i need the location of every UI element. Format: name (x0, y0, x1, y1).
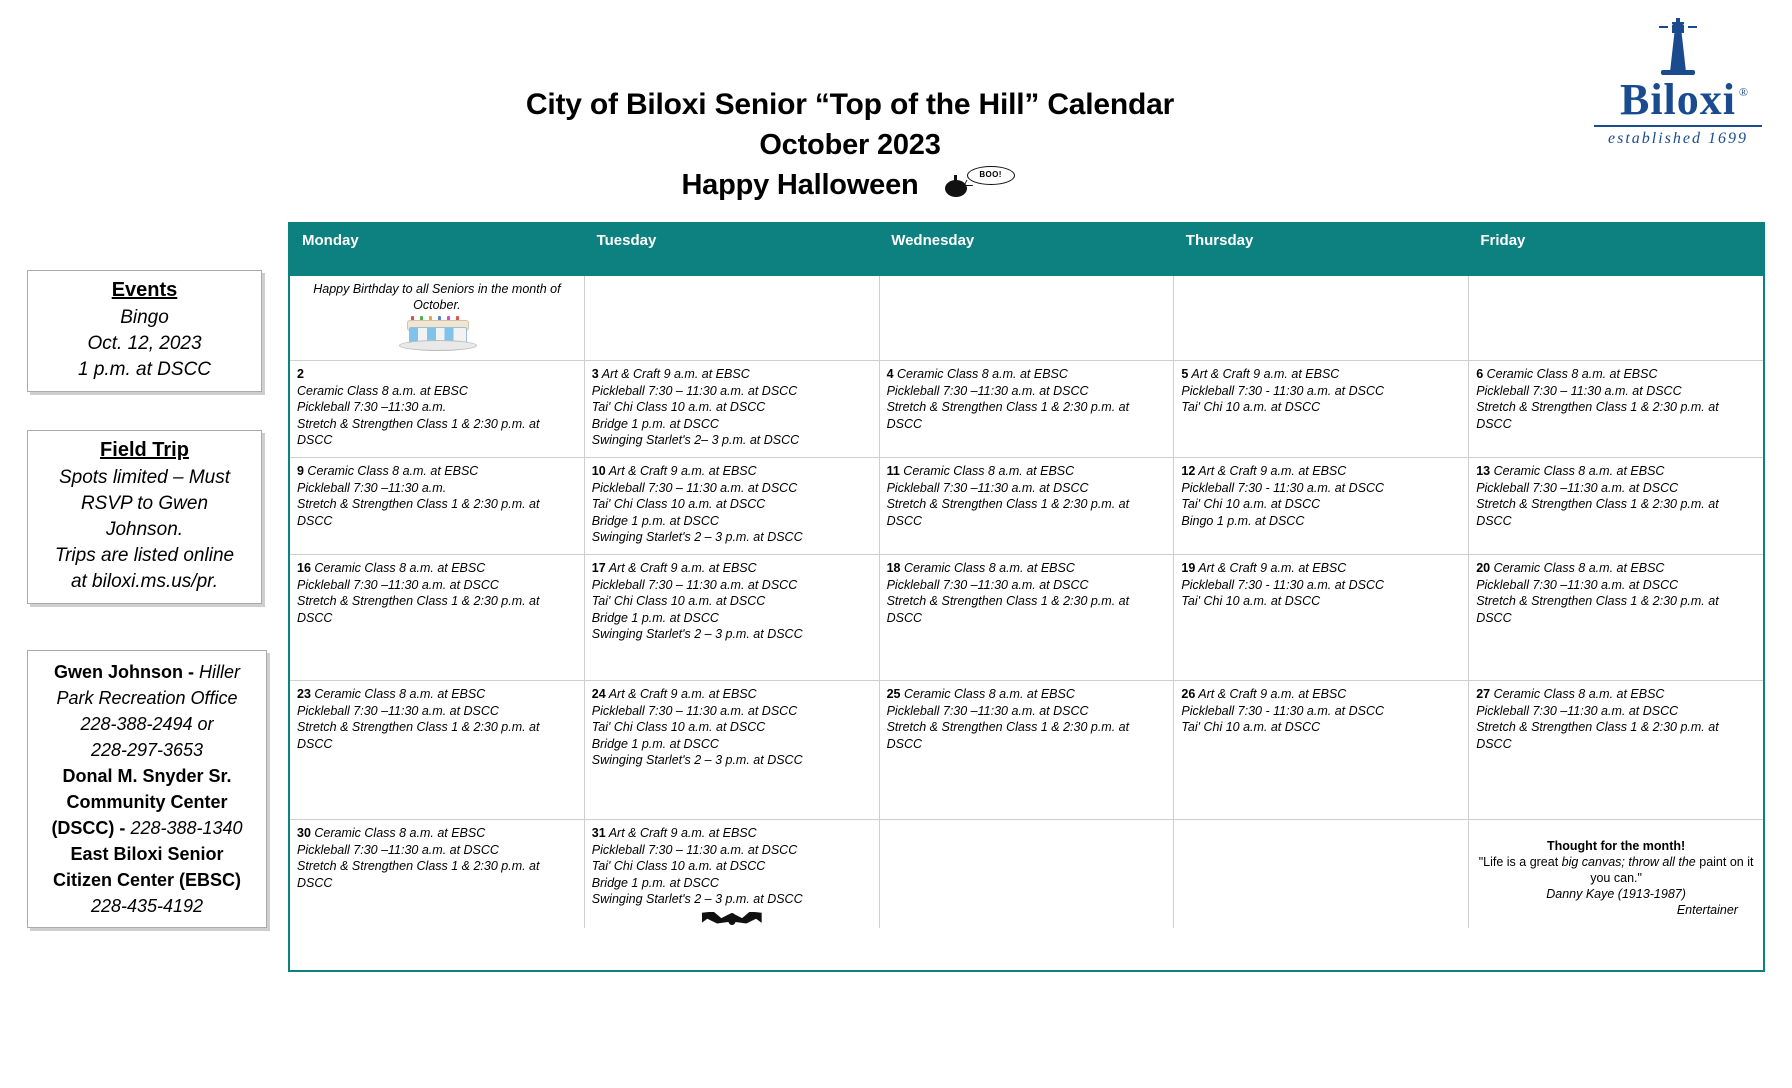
calendar-event-text: Tai' Chi Class 10 a.m. at DSCC (592, 593, 872, 610)
calendar-cell-day-26[interactable]: 26 Art & Craft 9 a.m. at EBSCPickleball … (1173, 681, 1468, 819)
calendar-day-number: 24 (592, 687, 606, 701)
calendar-event-text: Tai' Chi 10 a.m. at DSCC (1181, 399, 1461, 416)
events-line-1: Bingo (38, 305, 251, 331)
calendar-day-first-line: 25 Ceramic Class 8 a.m. at EBSC (887, 686, 1167, 703)
calendar-day-first-line: 4 Ceramic Class 8 a.m. at EBSC (887, 366, 1167, 383)
calendar-event-text: Ceramic Class 8 a.m. at EBSC (1490, 561, 1664, 575)
field-trip-line-4: Trips are listed online (38, 543, 251, 569)
calendar-event-text: Stretch & Strengthen Class 1 & 2:30 p.m.… (887, 593, 1167, 626)
calendar-day-number: 25 (887, 687, 901, 701)
calendar-day-number: 11 (887, 464, 900, 478)
thought-quote-part-1: "Life is a great (1479, 855, 1562, 869)
calendar-event-text: Pickleball 7:30 – 11:30 a.m. at DSCC (1476, 383, 1756, 400)
calendar-day-first-line: 26 Art & Craft 9 a.m. at EBSC (1181, 686, 1461, 703)
calendar-cell-empty[interactable] (1173, 276, 1468, 360)
calendar-event-text: Pickleball 7:30 –11:30 a.m. at DSCC (887, 383, 1167, 400)
calendar-event-text: Pickleball 7:30 –11:30 a.m. at DSCC (887, 577, 1167, 594)
calendar-cell-day-9[interactable]: 9 Ceramic Class 8 a.m. at EBSCPickleball… (290, 458, 584, 554)
calendar-day-first-line: 31 Art & Craft 9 a.m. at EBSC (592, 825, 872, 842)
calendar-event-text: Tai' Chi Class 10 a.m. at DSCC (592, 858, 872, 875)
calendar-day-number: 4 (887, 367, 894, 381)
calendar-day-number: 31 (592, 826, 606, 840)
calendar-header-monday: Monday (290, 224, 585, 276)
dscc-name-1: Donal M. Snyder Sr. (38, 763, 256, 789)
dscc-name-1-text: Donal M. Snyder Sr. (62, 766, 231, 786)
calendar-day-first-line: 24 Art & Craft 9 a.m. at EBSC (592, 686, 872, 703)
calendar-header-row: MondayTuesdayWednesdayThursdayFriday (290, 224, 1763, 276)
logo-wordmark: Biloxi® (1620, 78, 1736, 122)
ebsc-name-2-text: Citizen Center (EBSC) (53, 870, 241, 890)
boo-bubble-text: BOO! (967, 166, 1015, 185)
calendar-cell-day-4[interactable]: 4 Ceramic Class 8 a.m. at EBSCPickleball… (879, 361, 1174, 457)
calendar-event-text: Pickleball 7:30 - 11:30 a.m. at DSCC (1181, 577, 1461, 594)
ebsc-name-2: Citizen Center (EBSC) (38, 867, 256, 893)
calendar-event-text: Tai' Chi Class 10 a.m. at DSCC (592, 719, 872, 736)
calendar-event-text: Stretch & Strengthen Class 1 & 2:30 p.m.… (1476, 719, 1756, 752)
calendar-body: Happy Birthday to all Seniors in the mon… (290, 276, 1763, 928)
calendar-event-text: Pickleball 7:30 –11:30 a.m. (297, 399, 577, 416)
calendar-cell-empty[interactable] (1173, 820, 1468, 928)
calendar-cell-day-27[interactable]: 27 Ceramic Class 8 a.m. at EBSCPicklebal… (1468, 681, 1763, 819)
calendar-cell-thought-for-the-month[interactable]: Thought for the month!"Life is a great b… (1468, 820, 1763, 928)
calendar-day-number: 9 (297, 464, 304, 478)
calendar-event-text: Ceramic Class 8 a.m. at EBSC (297, 383, 577, 400)
calendar-event-text: Pickleball 7:30 –11:30 a.m. at DSCC (297, 577, 577, 594)
calendar-event-text: Swinging Starlet's 2 – 3 p.m. at DSCC (592, 752, 872, 769)
calendar-day-first-line: 23 Ceramic Class 8 a.m. at EBSC (297, 686, 577, 703)
calendar-week-row: Happy Birthday to all Seniors in the mon… (290, 276, 1763, 360)
calendar-event-text: Art & Craft 9 a.m. at EBSC (1195, 561, 1346, 575)
calendar-event-text: Art & Craft 9 a.m. at EBSC (1195, 464, 1346, 478)
calendar-event-text: Ceramic Class 8 a.m. at EBSC (900, 464, 1074, 478)
calendar-event-text: Bridge 1 p.m. at DSCC (592, 875, 872, 892)
logo-established: established 1699 (1580, 130, 1776, 148)
calendar-event-text: Bridge 1 p.m. at DSCC (592, 610, 872, 627)
calendar-event-text: Tai' Chi Class 10 a.m. at DSCC (592, 496, 872, 513)
field-trip-line-1: Spots limited – Must (38, 465, 251, 491)
calendar-event-text: Pickleball 7:30 –11:30 a.m. at DSCC (887, 703, 1167, 720)
calendar-day-first-line: 16 Ceramic Class 8 a.m. at EBSC (297, 560, 577, 577)
calendar-day-first-line: 18 Ceramic Class 8 a.m. at EBSC (887, 560, 1167, 577)
calendar-event-text: Tai' Chi 10 a.m. at DSCC (1181, 593, 1461, 610)
calendar-event-text: Tai' Chi 10 a.m. at DSCC (1181, 719, 1461, 736)
calendar-event-text: Pickleball 7:30 - 11:30 a.m. at DSCC (1181, 480, 1461, 497)
calendar-event-text: Pickleball 7:30 – 11:30 a.m. at DSCC (592, 842, 872, 859)
thought-quote: "Life is a great big canvas; throw all t… (1476, 854, 1756, 886)
calendar-event-text: Stretch & Strengthen Class 1 & 2:30 p.m.… (297, 416, 577, 449)
logo-wordmark-text: Biloxi (1620, 75, 1736, 124)
field-trip-line-2: RSVP to Gwen (38, 491, 251, 517)
calendar-event-text: Ceramic Class 8 a.m. at EBSC (1490, 464, 1664, 478)
calendar-day-number: 2 (297, 367, 304, 381)
calendar-day-number: 19 (1181, 561, 1195, 575)
calendar-day-first-line: 30 Ceramic Class 8 a.m. at EBSC (297, 825, 577, 842)
contact-box: Gwen Johnson - Hiller Park Recreation Of… (27, 650, 267, 928)
calendar-cell-day-6[interactable]: 6 Ceramic Class 8 a.m. at EBSCPickleball… (1468, 361, 1763, 457)
calendar-event-text: Art & Craft 9 a.m. at EBSC (599, 367, 750, 381)
calendar-event-text: Swinging Starlet's 2 – 3 p.m. at DSCC (592, 891, 872, 908)
calendar-event-text: Pickleball 7:30 –11:30 a.m. at DSCC (297, 703, 577, 720)
birthday-cake-icon (399, 317, 475, 351)
calendar-cell-day-24[interactable]: 24 Art & Craft 9 a.m. at EBSCPickleball … (584, 681, 879, 819)
calendar-cell-day-10[interactable]: 10 Art & Craft 9 a.m. at EBSCPickleball … (584, 458, 879, 554)
calendar-event-text: Bridge 1 p.m. at DSCC (592, 513, 872, 530)
calendar-day-first-line: 11 Ceramic Class 8 a.m. at EBSC (887, 463, 1167, 480)
calendar-header-friday: Friday (1468, 224, 1763, 276)
calendar-header-thursday: Thursday (1174, 224, 1469, 276)
calendar-day-first-line: 17 Art & Craft 9 a.m. at EBSC (592, 560, 872, 577)
field-trip-line-3: Johnson. (38, 517, 251, 543)
calendar-event-text: Pickleball 7:30 – 11:30 a.m. at DSCC (592, 480, 872, 497)
calendar-week-row: 23 Ceramic Class 8 a.m. at EBSCPicklebal… (290, 680, 1763, 819)
calendar-cell-empty[interactable] (879, 820, 1174, 928)
halloween-pumpkin-icon: BOO! (939, 166, 1019, 200)
calendar-cell-day-18[interactable]: 18 Ceramic Class 8 a.m. at EBSCPicklebal… (879, 555, 1174, 680)
calendar-event-text: Stretch & Strengthen Class 1 & 2:30 p.m.… (1476, 496, 1756, 529)
calendar-header-wednesday: Wednesday (879, 224, 1174, 276)
calendar-cell-day-16[interactable]: 16 Ceramic Class 8 a.m. at EBSCPicklebal… (290, 555, 584, 680)
calendar-cell-empty[interactable] (879, 276, 1174, 360)
logo-divider (1594, 125, 1762, 127)
contact-name-row: Gwen Johnson - Hiller (38, 659, 256, 685)
contact-phone-2: 228-297-3653 (38, 737, 256, 763)
calendar-event-text: Tai' Chi 10 a.m. at DSCC (1181, 496, 1461, 513)
page-title: City of Biloxi Senior “Top of the Hill” … (300, 85, 1400, 205)
calendar-day-number: 20 (1476, 561, 1490, 575)
calendar-event-text: Stretch & Strengthen Class 1 & 2:30 p.m.… (887, 496, 1167, 529)
events-line-3: 1 p.m. at DSCC (38, 357, 251, 383)
contact-phone-1: 228-388-2494 or (38, 711, 256, 737)
calendar-event-text: Ceramic Class 8 a.m. at EBSC (901, 561, 1075, 575)
calendar-event-text: Pickleball 7:30 –11:30 a.m. at DSCC (1476, 703, 1756, 720)
calendar-event-text: Pickleball 7:30 –11:30 a.m. (297, 480, 577, 497)
calendar-event-text: Swinging Starlet's 2– 3 p.m. at DSCC (592, 432, 872, 449)
calendar-event-text: Stretch & Strengthen Class 1 & 2:30 p.m.… (297, 719, 577, 752)
calendar-event-text: Bingo 1 p.m. at DSCC (1181, 513, 1461, 530)
calendar-cell-day-3[interactable]: 3 Art & Craft 9 a.m. at EBSCPickleball 7… (584, 361, 879, 457)
calendar-event-text: Ceramic Class 8 a.m. at EBSC (311, 561, 485, 575)
calendar-event-text: Bridge 1 p.m. at DSCC (592, 416, 872, 433)
calendar-event-text: Stretch & Strengthen Class 1 & 2:30 p.m.… (887, 399, 1167, 432)
calendar-cell-day-2[interactable]: 2 Ceramic Class 8 a.m. at EBSCPickleball… (290, 361, 584, 457)
title-line-2: October 2023 (300, 125, 1400, 165)
calendar-event-text: Pickleball 7:30 – 11:30 a.m. at DSCC (592, 577, 872, 594)
thought-author-role: Entertainer (1476, 902, 1756, 918)
dscc-phone: 228-388-1340 (130, 818, 242, 838)
contact-name-italic: Hiller (194, 662, 240, 682)
calendar-cell-day-17[interactable]: 17 Art & Craft 9 a.m. at EBSCPickleball … (584, 555, 879, 680)
calendar-day-first-line: 5 Art & Craft 9 a.m. at EBSC (1181, 366, 1461, 383)
dscc-label: (DSCC) - (51, 818, 130, 838)
birthday-note-text: Happy Birthday to all Seniors in the mon… (297, 281, 577, 313)
calendar-event-text: Ceramic Class 8 a.m. at EBSC (1483, 367, 1657, 381)
calendar-day-first-line: 20 Ceramic Class 8 a.m. at EBSC (1476, 560, 1756, 577)
calendar-event-text: Stretch & Strengthen Class 1 & 2:30 p.m.… (1476, 399, 1756, 432)
calendar-cell-day-19[interactable]: 19 Art & Craft 9 a.m. at EBSCPickleball … (1173, 555, 1468, 680)
calendar-cell-day-25[interactable]: 25 Ceramic Class 8 a.m. at EBSCPicklebal… (879, 681, 1174, 819)
calendar-event-text: Bridge 1 p.m. at DSCC (592, 736, 872, 753)
calendar-day-number: 13 (1476, 464, 1490, 478)
calendar-event-text: Art & Craft 9 a.m. at EBSC (1188, 367, 1339, 381)
calendar-day-first-line: 9 Ceramic Class 8 a.m. at EBSC (297, 463, 577, 480)
field-trip-title: Field Trip (38, 439, 251, 462)
calendar-day-number: 23 (297, 687, 311, 701)
calendar-event-text: Pickleball 7:30 –11:30 a.m. at DSCC (1476, 577, 1756, 594)
dscc-name-2-text: Community Center (66, 792, 227, 812)
calendar-event-text: Art & Craft 9 a.m. at EBSC (1195, 687, 1346, 701)
calendar-week-row: 2 Ceramic Class 8 a.m. at EBSCPickleball… (290, 360, 1763, 457)
calendar-cell-day-20[interactable]: 20 Ceramic Class 8 a.m. at EBSCPicklebal… (1468, 555, 1763, 680)
calendar-day-number: 27 (1476, 687, 1490, 701)
calendar-event-text: Art & Craft 9 a.m. at EBSC (606, 826, 757, 840)
calendar-event-text: Stretch & Strengthen Class 1 & 2:30 p.m.… (297, 858, 577, 891)
events-box: Events Bingo Oct. 12, 2023 1 p.m. at DSC… (27, 270, 262, 392)
calendar-header-tuesday: Tuesday (585, 224, 880, 276)
calendar-event-text: Pickleball 7:30 - 11:30 a.m. at DSCC (1181, 703, 1461, 720)
calendar-event-text: Pickleball 7:30 - 11:30 a.m. at DSCC (1181, 383, 1461, 400)
registered-mark: ® (1739, 70, 1749, 114)
calendar-event-text: Stretch & Strengthen Class 1 & 2:30 p.m.… (887, 719, 1167, 752)
calendar-day-first-line: 2 (297, 366, 577, 383)
calendar-cell-day-5[interactable]: 5 Art & Craft 9 a.m. at EBSCPickleball 7… (1173, 361, 1468, 457)
title-line-3: Happy HalloweenBOO! (300, 165, 1400, 205)
calendar-event-text: Pickleball 7:30 – 11:30 a.m. at DSCC (592, 383, 872, 400)
title-line-3-text: Happy Halloween (681, 169, 918, 201)
calendar-event-text: Swinging Starlet's 2 – 3 p.m. at DSCC (592, 529, 872, 546)
calendar-cell-day-30[interactable]: 30 Ceramic Class 8 a.m. at EBSCPicklebal… (290, 820, 584, 928)
calendar-day-first-line: 10 Art & Craft 9 a.m. at EBSC (592, 463, 872, 480)
calendar-event-text: Swinging Starlet's 2 – 3 p.m. at DSCC (592, 626, 872, 643)
calendar-cell-empty[interactable] (584, 276, 879, 360)
calendar-event-text: Ceramic Class 8 a.m. at EBSC (304, 464, 478, 478)
calendar-cell-day-12[interactable]: 12 Art & Craft 9 a.m. at EBSCPickleball … (1173, 458, 1468, 554)
calendar-event-text: Pickleball 7:30 –11:30 a.m. at DSCC (297, 842, 577, 859)
calendar-event-text: Pickleball 7:30 –11:30 a.m. at DSCC (1476, 480, 1756, 497)
dscc-name-2: Community Center (38, 789, 256, 815)
calendar-day-number: 30 (297, 826, 311, 840)
calendar-day-first-line: 3 Art & Craft 9 a.m. at EBSC (592, 366, 872, 383)
lighthouse-icon (1657, 18, 1699, 76)
calendar-cell-birthday-note[interactable]: Happy Birthday to all Seniors in the mon… (290, 276, 584, 360)
bat-icon (700, 910, 764, 929)
calendar-day-number: 18 (887, 561, 901, 575)
contact-name-bold: Gwen Johnson - (54, 662, 194, 682)
field-trip-line-5: at biloxi.ms.us/pr. (38, 569, 251, 595)
calendar-week-row: 30 Ceramic Class 8 a.m. at EBSCPicklebal… (290, 819, 1763, 928)
calendar-event-text: Art & Craft 9 a.m. at EBSC (606, 464, 757, 478)
calendar-day-first-line: 6 Ceramic Class 8 a.m. at EBSC (1476, 366, 1756, 383)
calendar-day-number: 16 (297, 561, 311, 575)
calendar-cell-day-23[interactable]: 23 Ceramic Class 8 a.m. at EBSCPicklebal… (290, 681, 584, 819)
calendar-week-row: 16 Ceramic Class 8 a.m. at EBSCPicklebal… (290, 554, 1763, 680)
calendar-cell-empty[interactable] (1468, 276, 1763, 360)
calendar-cell-day-31[interactable]: 31 Art & Craft 9 a.m. at EBSCPickleball … (584, 820, 879, 928)
calendar-event-text: Ceramic Class 8 a.m. at EBSC (894, 367, 1068, 381)
calendar-day-number: 10 (592, 464, 606, 478)
calendar-day-number: 17 (592, 561, 606, 575)
calendar-event-text: Stretch & Strengthen Class 1 & 2:30 p.m.… (297, 593, 577, 626)
field-trip-box: Field Trip Spots limited – Must RSVP to … (27, 430, 262, 604)
events-line-2: Oct. 12, 2023 (38, 331, 251, 357)
biloxi-logo: Biloxi® established 1699 (1580, 18, 1776, 168)
thought-quote-italic: big canvas; throw all the (1562, 855, 1696, 869)
calendar-event-text: Ceramic Class 8 a.m. at EBSC (311, 826, 485, 840)
calendar-event-text: Art & Craft 9 a.m. at EBSC (606, 687, 757, 701)
calendar-event-text: Art & Craft 9 a.m. at EBSC (606, 561, 757, 575)
contact-office: Park Recreation Office (38, 685, 256, 711)
events-title: Events (38, 279, 251, 302)
calendar-event-text: Stretch & Strengthen Class 1 & 2:30 p.m.… (297, 496, 577, 529)
calendar-event-text: Pickleball 7:30 – 11:30 a.m. at DSCC (592, 703, 872, 720)
calendar-table: MondayTuesdayWednesdayThursdayFriday Hap… (288, 222, 1765, 972)
ebsc-name-1: East Biloxi Senior (38, 841, 256, 867)
ebsc-phone: 228-435-4192 (38, 893, 256, 919)
calendar-day-number: 26 (1181, 687, 1195, 701)
calendar-event-text: Ceramic Class 8 a.m. at EBSC (901, 687, 1075, 701)
title-line-1: City of Biloxi Senior “Top of the Hill” … (300, 85, 1400, 125)
calendar-week-row: 9 Ceramic Class 8 a.m. at EBSCPickleball… (290, 457, 1763, 554)
dscc-phone-row: (DSCC) - 228-388-1340 (38, 815, 256, 841)
calendar-day-first-line: 27 Ceramic Class 8 a.m. at EBSC (1476, 686, 1756, 703)
calendar-cell-day-11[interactable]: 11 Ceramic Class 8 a.m. at EBSCPicklebal… (879, 458, 1174, 554)
thought-author: Danny Kaye (1913-1987) (1476, 886, 1756, 902)
ebsc-name-1-text: East Biloxi Senior (70, 844, 223, 864)
calendar-day-first-line: 13 Ceramic Class 8 a.m. at EBSC (1476, 463, 1756, 480)
calendar-cell-day-13[interactable]: 13 Ceramic Class 8 a.m. at EBSCPicklebal… (1468, 458, 1763, 554)
calendar-day-first-line: 12 Art & Craft 9 a.m. at EBSC (1181, 463, 1461, 480)
calendar-event-text: Stretch & Strengthen Class 1 & 2:30 p.m.… (1476, 593, 1756, 626)
calendar-day-number: 3 (592, 367, 599, 381)
calendar-day-number: 12 (1181, 464, 1195, 478)
calendar-event-text: Tai' Chi Class 10 a.m. at DSCC (592, 399, 872, 416)
calendar-day-first-line: 19 Art & Craft 9 a.m. at EBSC (1181, 560, 1461, 577)
thought-title: Thought for the month! (1476, 838, 1756, 854)
calendar-event-text: Ceramic Class 8 a.m. at EBSC (1490, 687, 1664, 701)
calendar-event-text: Ceramic Class 8 a.m. at EBSC (311, 687, 485, 701)
calendar-event-text: Pickleball 7:30 –11:30 a.m. at DSCC (887, 480, 1167, 497)
